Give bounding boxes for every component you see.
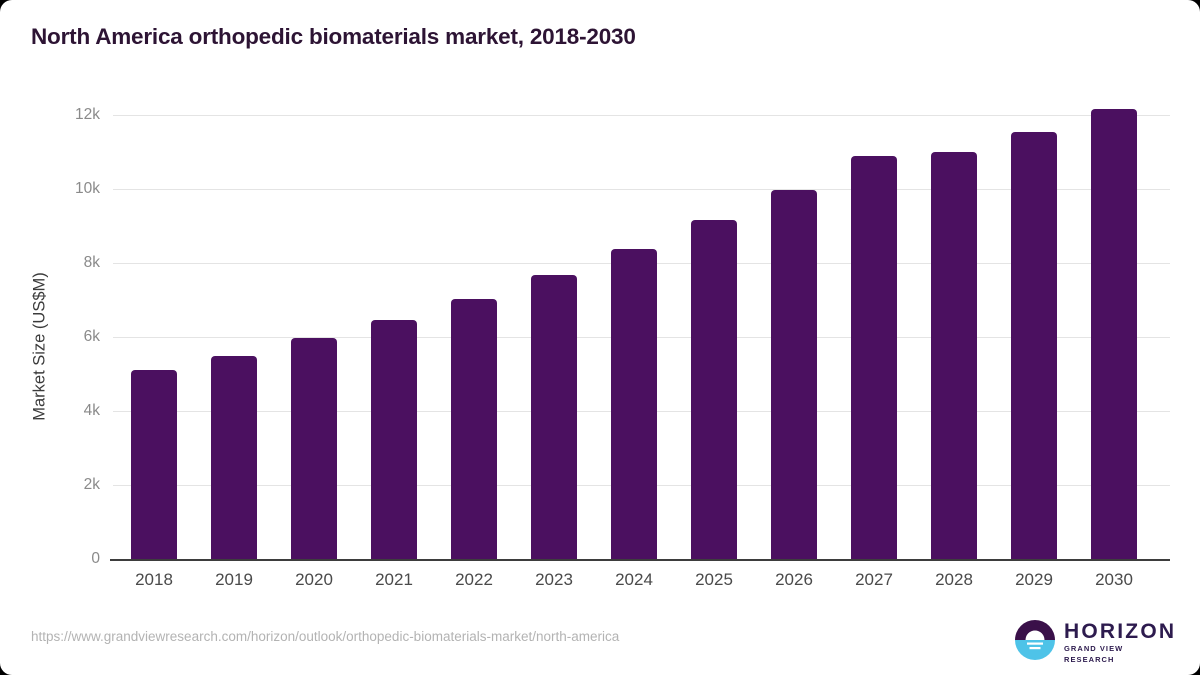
y-tick-label: 6k (20, 328, 100, 346)
x-tick-label-2019: 2019 (194, 570, 274, 590)
y-tick-label: 0 (20, 550, 100, 568)
x-tick-label-2018: 2018 (114, 570, 194, 590)
x-tick-label-2022: 2022 (434, 570, 514, 590)
x-tick-label-2023: 2023 (514, 570, 594, 590)
y-tick-label: 4k (20, 402, 100, 420)
horizon-sun-icon (1014, 619, 1056, 661)
bar-2022[interactable] (451, 299, 497, 559)
x-tick-label-2020: 2020 (274, 570, 354, 590)
x-tick-label-2030: 2030 (1074, 570, 1154, 590)
y-tick-label: 12k (20, 106, 100, 124)
logo-tagline: GRAND VIEW RESEARCH (1064, 643, 1174, 665)
horizon-logo: HORIZON GRAND VIEW RESEARCH (1010, 617, 1170, 663)
bar-2018[interactable] (131, 370, 177, 559)
y-tick-label: 10k (20, 180, 100, 198)
bar-2019[interactable] (211, 356, 257, 560)
bar-2020[interactable] (291, 338, 337, 559)
bar-2028[interactable] (931, 152, 977, 559)
x-tick-label-2028: 2028 (914, 570, 994, 590)
bar-2023[interactable] (531, 275, 577, 559)
x-tick-label-2029: 2029 (994, 570, 1074, 590)
y-tick-label: 8k (20, 254, 100, 272)
x-axis-line (110, 559, 1170, 561)
x-tick-label-2025: 2025 (674, 570, 754, 590)
logo-wordmark: HORIZON (1064, 621, 1174, 643)
y-tick-label: 2k (20, 476, 100, 494)
source-url[interactable]: https://www.grandviewresearch.com/horizo… (31, 629, 619, 644)
bar-2021[interactable] (371, 320, 417, 559)
bar-2027[interactable] (851, 156, 897, 559)
x-tick-label-2027: 2027 (834, 570, 914, 590)
bar-2030[interactable] (1091, 109, 1137, 559)
logo-text: HORIZON GRAND VIEW RESEARCH (1064, 621, 1174, 665)
bar-2029[interactable] (1011, 132, 1057, 559)
plot-area: Market Size (US$M) 02k4k6k8k10k12k201820… (0, 0, 1200, 675)
bar-2026[interactable] (771, 190, 817, 559)
x-tick-label-2024: 2024 (594, 570, 674, 590)
x-tick-label-2026: 2026 (754, 570, 834, 590)
bar-2024[interactable] (611, 249, 657, 559)
bar-2025[interactable] (691, 220, 737, 559)
y-axis-title: Market Size (US$M) (31, 197, 50, 497)
grid-line (113, 115, 1170, 116)
x-tick-label-2021: 2021 (354, 570, 434, 590)
chart-card: North America orthopedic biomaterials ma… (0, 0, 1200, 675)
